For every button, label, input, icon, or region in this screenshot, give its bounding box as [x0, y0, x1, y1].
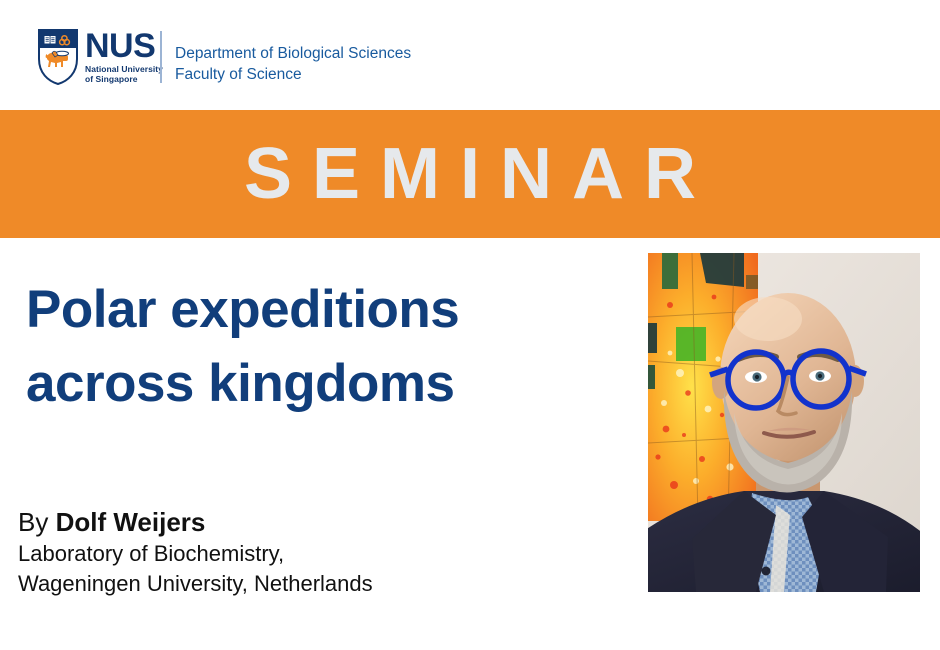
speaker-portrait-illustration: [648, 253, 920, 592]
nus-tagline-line2: of Singapore: [85, 74, 163, 85]
speaker-name: Dolf Weijers: [56, 507, 206, 537]
speaker-portrait-photo: [648, 253, 920, 592]
nus-logo: NUS National University of Singapore: [38, 28, 163, 86]
department-block: Department of Biological Sciences Facult…: [175, 43, 411, 85]
main-content: Polar expeditions across kingdoms By Dol…: [0, 238, 940, 650]
nus-shield-icon: [38, 29, 78, 85]
speaker-byline-prefix: By: [18, 507, 56, 537]
nus-tagline-line1: National University: [85, 64, 163, 75]
seminar-banner-label: SEMINAR: [224, 138, 716, 210]
page-header: NUS National University of Singapore Dep…: [0, 0, 940, 110]
nus-wordmark: NUS National University of Singapore: [85, 29, 163, 85]
talk-title: Polar expeditions across kingdoms: [26, 273, 626, 421]
speaker-affiliation-line-1: Laboratory of Biochemistry,: [18, 539, 628, 569]
nus-tagline: National University of Singapore: [85, 64, 163, 85]
seminar-banner: SEMINAR: [0, 110, 940, 238]
speaker-affiliation-line-2: Wageningen University, Netherlands: [18, 569, 628, 599]
header-divider: [160, 31, 162, 83]
talk-title-line-1: Polar expeditions: [26, 273, 626, 347]
department-line-1: Department of Biological Sciences: [175, 43, 411, 64]
talk-title-line-2: across kingdoms: [26, 347, 626, 421]
speaker-byline: By Dolf Weijers: [18, 506, 628, 539]
department-line-2: Faculty of Science: [175, 64, 411, 85]
speaker-block: By Dolf Weijers Laboratory of Biochemist…: [18, 506, 628, 599]
nus-acronym: NUS: [85, 30, 163, 62]
